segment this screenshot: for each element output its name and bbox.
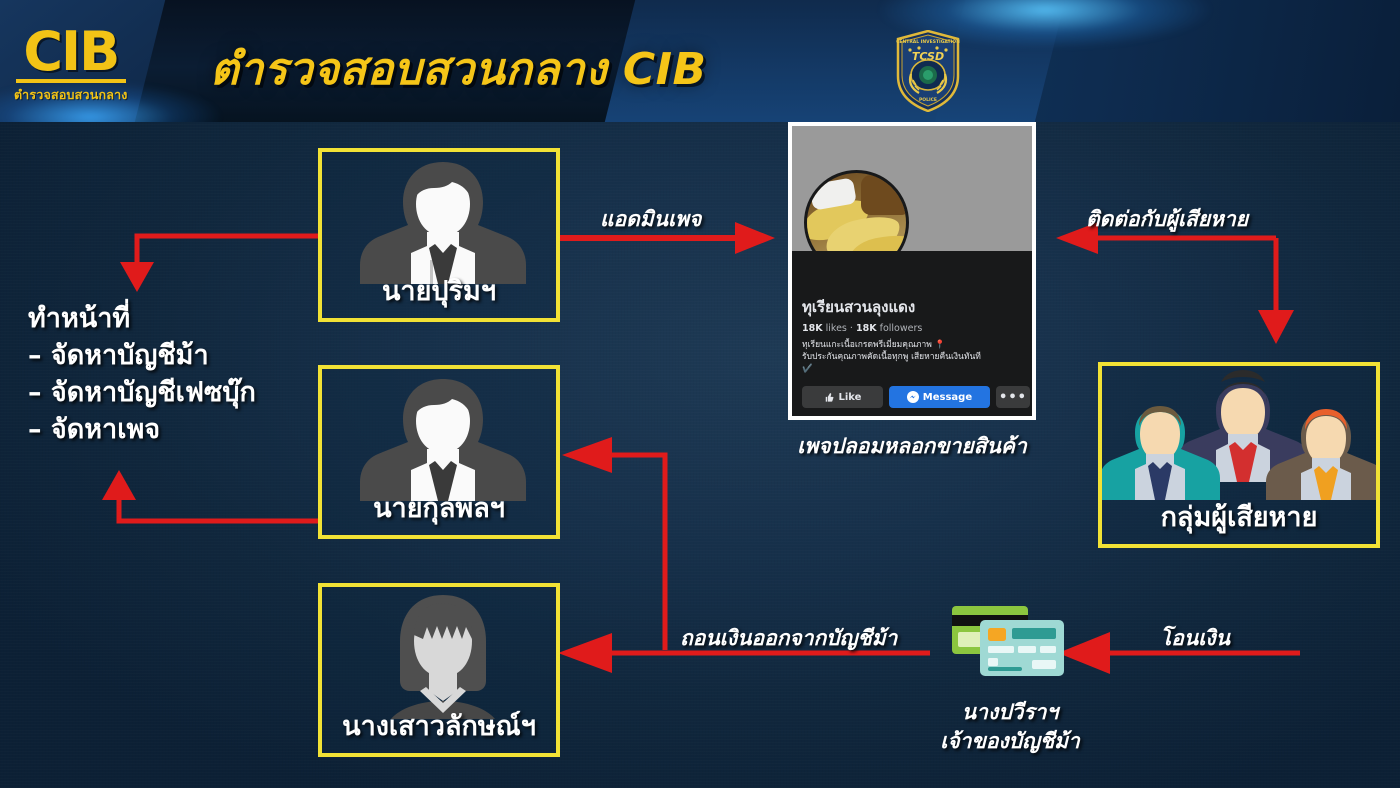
- person-box-kulpol[interactable]: นายกุลพลฯ: [318, 365, 560, 539]
- page-title: ตำรวจสอบสวนกลาง CIB: [210, 34, 707, 104]
- duties-heading: ทำหน้าที่: [28, 300, 256, 337]
- arrow-purim-duties: [120, 236, 318, 292]
- facebook-description-line-2: รับประกันคุณภาพคัดเนื้อทุกพู เสียหายคืนเ…: [802, 351, 1022, 363]
- victims-figures-icon: [1102, 368, 1380, 500]
- facebook-stat-separator: ·: [850, 323, 853, 334]
- victims-group-box[interactable]: กลุ่มผู้เสียหาย: [1098, 362, 1380, 548]
- arrow-kulpol-duties: [102, 470, 318, 521]
- bank-account-owner-role: เจ้าของบัญชีม้า: [900, 727, 1120, 756]
- person-name-kulpol: นายกุลพลฯ: [373, 486, 505, 535]
- arrow-label-admin-page: แอดมินเพจ: [600, 203, 701, 236]
- facebook-page-caption: เพจปลอมหลอกขายสินค้า: [788, 430, 1036, 463]
- cib-logo-subtitle: ตำรวจสอบสวนกลาง: [14, 85, 128, 105]
- person-box-saowalak[interactable]: นางเสาวลักษณ์ฯ: [318, 583, 560, 757]
- bank-account-owner-name: นางปวีราฯ: [900, 698, 1120, 727]
- male-silhouette-icon: [322, 156, 560, 284]
- victims-group-label: กลุ่มผู้เสียหาย: [1161, 495, 1318, 544]
- cib-logo-text: CIB: [14, 26, 128, 78]
- cib-logo: CIB ตำรวจสอบสวนกลาง: [14, 26, 128, 105]
- facebook-message-label: Message: [923, 392, 972, 403]
- facebook-more-button[interactable]: •••: [996, 386, 1030, 408]
- facebook-like-button[interactable]: Like: [802, 386, 883, 408]
- female-silhouette-icon: [322, 591, 560, 719]
- credit-card-front: [980, 620, 1064, 676]
- credit-cards-icon: [950, 604, 1068, 682]
- facebook-message-button[interactable]: Message: [889, 386, 990, 408]
- person-box-purim[interactable]: นายปุริมฯ: [318, 148, 560, 322]
- person-name-purim: นายปุริมฯ: [382, 269, 496, 318]
- person-name-saowalak: นางเสาวลักษณ์ฯ: [342, 704, 536, 753]
- facebook-page-card[interactable]: ทุเรียนสวนลุงแดง 18K likes · 18K followe…: [788, 122, 1036, 420]
- facebook-likes-label: likes: [826, 323, 847, 334]
- messenger-icon: [907, 391, 919, 403]
- svg-text:CENTRAL INVESTIGATION: CENTRAL INVESTIGATION: [896, 39, 960, 45]
- arrow-contact-victim: [1056, 222, 1294, 344]
- facebook-page-stats: 18K likes · 18K followers: [802, 323, 1022, 334]
- arrow-label-transfer-money: โอนเงิน: [1160, 622, 1230, 655]
- facebook-description-line-3: ✔️: [802, 363, 1022, 375]
- duties-block: ทำหน้าที่ – จัดหาบัญชีม้า – จัดหาบัญชีเฟ…: [28, 300, 256, 448]
- male-silhouette-icon: [322, 373, 560, 501]
- facebook-followers-count: 18K: [856, 323, 877, 334]
- facebook-likes-count: 18K: [802, 323, 823, 334]
- bank-account-owner-caption: นางปวีราฯ เจ้าของบัญชีม้า: [900, 698, 1120, 756]
- arrow-label-withdraw-money: ถอนเงินออกจากบัญชีม้า: [680, 622, 897, 655]
- facebook-page-name: ทุเรียนสวนลุงแดง: [802, 295, 1022, 319]
- facebook-page-description: ทุเรียนแกะเนื้อเกรดพรีเมี่ยมคุณภาพ 📍 รับ…: [802, 339, 1022, 375]
- arrow-label-contact-victim: ติดต่อกับผู้เสียหาย: [1086, 203, 1248, 236]
- thumbs-up-icon: [823, 392, 834, 403]
- facebook-action-bar: Like Message •••: [802, 386, 1030, 408]
- facebook-description-line-1: ทุเรียนแกะเนื้อเกรดพรีเมี่ยมคุณภาพ 📍: [802, 339, 1022, 351]
- svg-text:POLICE: POLICE: [919, 97, 937, 103]
- police-badge-icon: CENTRAL INVESTIGATION TCSD POLICE: [895, 30, 961, 112]
- facebook-followers-label: followers: [880, 323, 923, 334]
- facebook-like-label: Like: [838, 392, 861, 403]
- arrow-to-kulpol: [562, 437, 665, 650]
- duties-item-2: – จัดหาเพจ: [28, 411, 256, 448]
- duties-item-0: – จัดหาบัญชีม้า: [28, 337, 256, 374]
- duties-item-1: – จัดหาบัญชีเฟซบุ๊ก: [28, 374, 256, 411]
